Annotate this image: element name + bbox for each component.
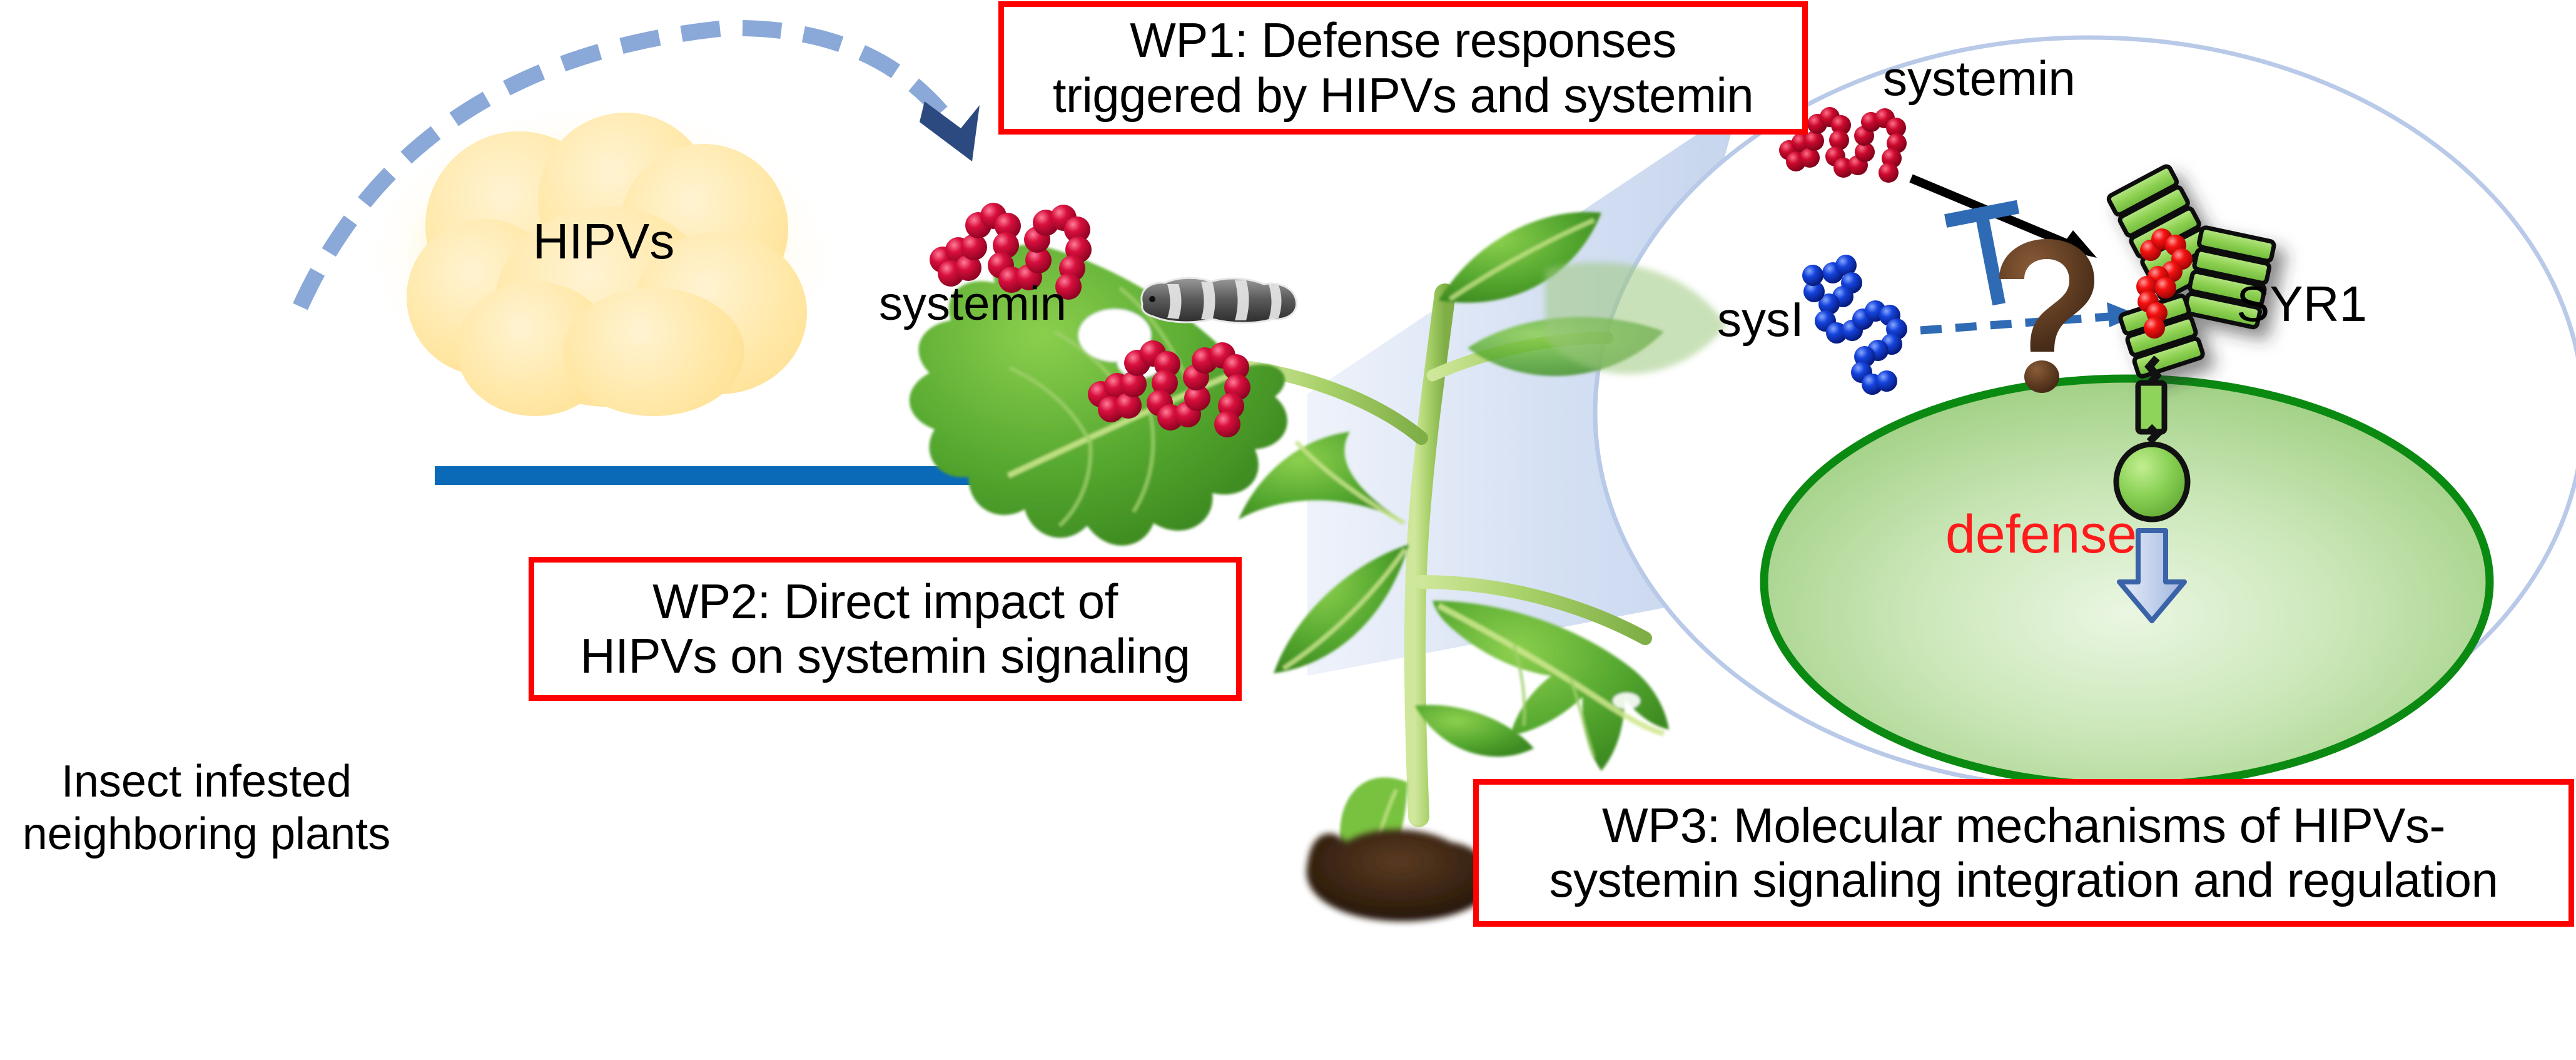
syr1-transmembrane-and-kinase bbox=[2116, 358, 2188, 519]
wp2-box[interactable]: WP2: Direct impact of HIPVs on systemin … bbox=[529, 557, 1242, 701]
syr1-receptor bbox=[2107, 165, 2274, 378]
wp3-box[interactable]: WP3: Molecular mechanisms of HIPVs- syst… bbox=[1473, 779, 2574, 927]
systemin-inset-label: systemin bbox=[1883, 50, 2076, 106]
wp3-label: WP3: Molecular mechanisms of HIPVs- syst… bbox=[1549, 798, 2498, 908]
defense-label: defense bbox=[1945, 504, 2137, 566]
sysi-peptide-inset bbox=[1802, 255, 1907, 395]
sysi-label: sysI bbox=[1717, 291, 1804, 347]
figure-canvas: HIPVs bbox=[0, 0, 2576, 1060]
wp1-box[interactable]: WP1: Defense responses triggered by HIPV… bbox=[998, 1, 1808, 135]
systemin-peptide-leaf-2 bbox=[1088, 340, 1250, 437]
insect-infested-label: Insect infested neighboring plants bbox=[9, 756, 403, 860]
wp1-label: WP1: Defense responses triggered by HIPV… bbox=[1053, 13, 1753, 123]
syr1-label: SYR1 bbox=[2236, 275, 2367, 334]
sysi-signaling-dashed-arrow bbox=[1920, 302, 2138, 330]
wp2-label: WP2: Direct impact of HIPVs on systemin … bbox=[581, 574, 1190, 684]
systemin-leaf-label: systemin bbox=[879, 277, 1067, 332]
